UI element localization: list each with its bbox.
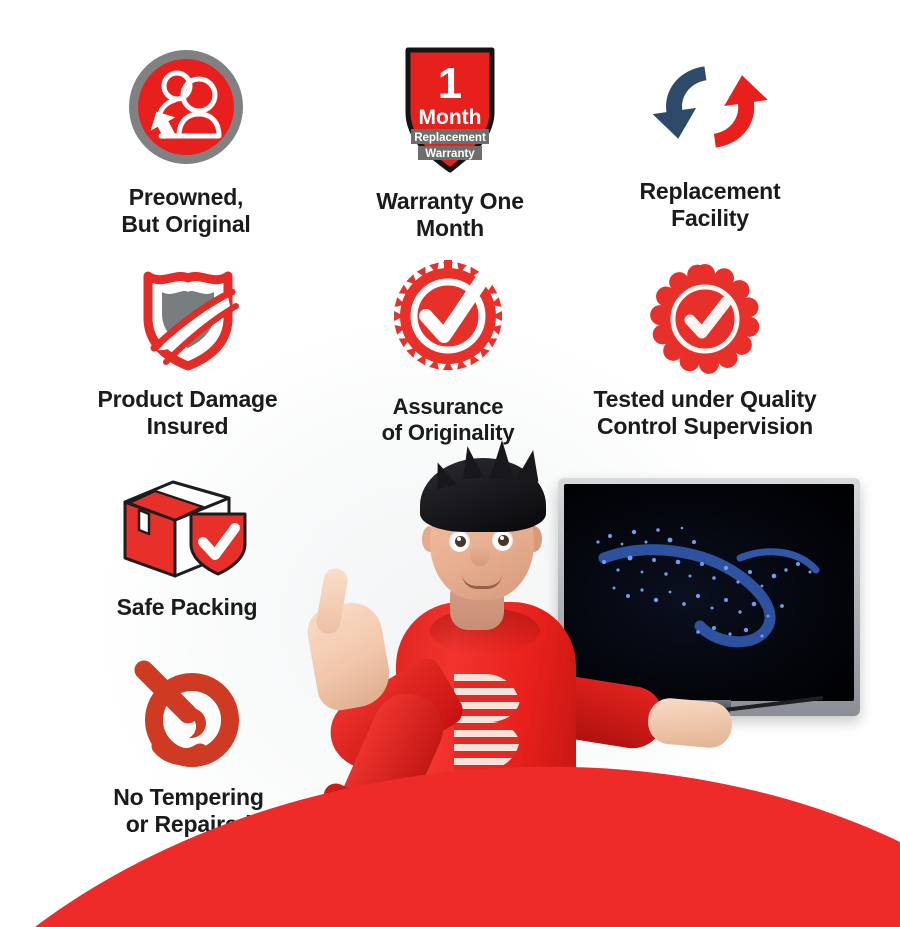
badge-period: Month (419, 106, 482, 129)
box-with-shield-check-icon (92, 470, 282, 580)
feature-caption: Tested under Quality Control Supervision (572, 386, 838, 440)
mascot-eye-right (492, 529, 513, 551)
infographic-canvas: Preowned, But Original 1 Month Replaceme… (0, 0, 900, 927)
scalloped-check-seal-icon (572, 268, 838, 372)
feature-preowned-but-original: Preowned, But Original (86, 48, 286, 238)
mascot-holding-hand (646, 696, 734, 749)
feature-caption: Warranty One Month (350, 188, 550, 242)
mascot-nose (470, 544, 490, 566)
feature-caption: Assurance of Originality (358, 394, 538, 446)
warranty-shield-badge-icon: 1 Month Replacement Warranty (350, 42, 550, 170)
damaged-shield-icon (80, 262, 295, 370)
mascot-eye-left (449, 530, 470, 552)
starburst-check-seal-icon (358, 262, 538, 372)
feature-assurance-of-originality: Assurance of Originality (358, 262, 538, 446)
people-swap-circle-icon (86, 48, 286, 166)
feature-tested-under-quality-control: Tested under Quality Control Supervision (572, 268, 838, 440)
no-wrench-prohibited-icon (86, 660, 291, 770)
badge-number: 1 (438, 59, 462, 108)
feature-caption: Safe Packing (92, 594, 282, 621)
mascot-hair-spike (516, 448, 545, 484)
badge-line4: Warranty (425, 148, 475, 160)
badge-line3: Replacement (414, 132, 486, 144)
feature-warranty-one-month: 1 Month Replacement Warranty Warranty On… (350, 42, 550, 242)
feature-caption: Replacement Facility (600, 178, 820, 232)
feature-product-damage-insured: Product Damage Insured (80, 262, 295, 440)
two-arrows-refresh-icon (600, 50, 820, 162)
feature-caption: Product Damage Insured (80, 386, 295, 440)
feature-safe-packing: Safe Packing (92, 470, 282, 621)
feature-caption: Preowned, But Original (86, 184, 286, 238)
feature-replacement-facility: Replacement Facility (600, 50, 820, 232)
